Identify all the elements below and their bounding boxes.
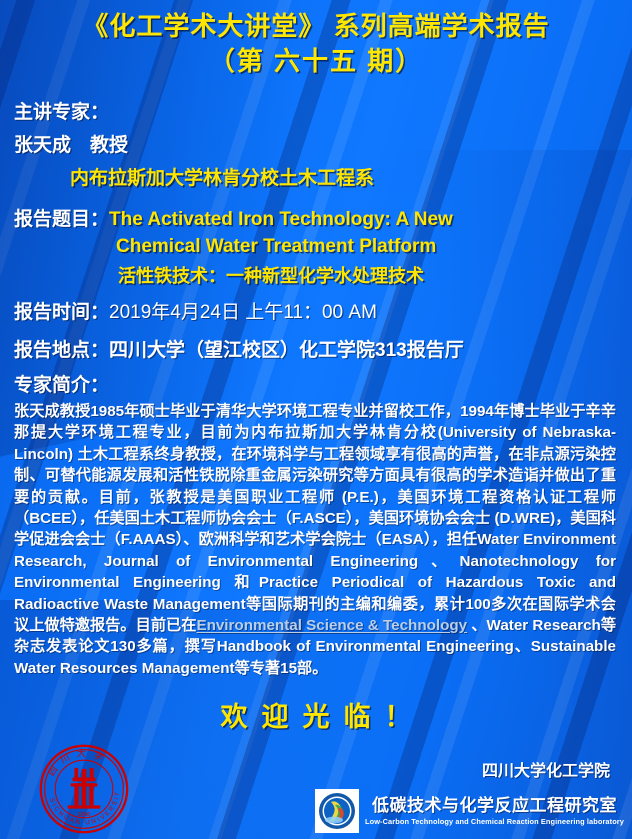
lab-name-en: Low-Carbon Technology and Chemical React…: [365, 816, 624, 827]
talk-title-en-line2: Chemical Water Treatment Platform: [14, 233, 618, 261]
svg-text:四川大学: 四川大学: [47, 747, 111, 778]
bio-text-part1: 张天成教授1985年硕士毕业于清华大学环境工程专业并留校工作，1994年博士毕业…: [14, 403, 616, 634]
lab-name-cn: 低碳技术与化学反应工程研究室: [365, 795, 624, 816]
talk-time-value: 2019年4月24日 上午11：00 AM: [109, 302, 377, 323]
sichuan-university-seal-icon: 四川大学 SICHUAN UNIVERSITY: [36, 741, 132, 837]
bio-paragraph: 张天成教授1985年硕士毕业于清华大学环境工程专业并留校工作，1994年博士毕业…: [14, 401, 618, 679]
talk-title-en-line1: The Activated Iron Technology: A New: [109, 209, 453, 230]
talk-title-label: 报告题目：: [14, 209, 109, 230]
talk-title-block: 报告题目：The Activated Iron Technology: A Ne…: [14, 206, 618, 290]
lab-logo-row: 低碳技术与化学反应工程研究室 Low-Carbon Technology and…: [294, 789, 624, 833]
organizer-name: 四川大学化工学院: [294, 761, 624, 783]
lab-text-block: 低碳技术与化学反应工程研究室 Low-Carbon Technology and…: [365, 795, 624, 827]
svg-text:1896: 1896: [78, 812, 91, 818]
lab-emblem-icon: [315, 789, 359, 833]
talk-title-row1: 报告题目：The Activated Iron Technology: A Ne…: [14, 206, 618, 233]
talk-title-cn: 活性铁技术：一种新型化学水处理技术: [14, 262, 618, 290]
talk-venue-line: 报告地点：四川大学（望江校区）化工学院313报告厅: [14, 335, 618, 366]
speaker-affiliation: 内布拉斯加大学林肯分校土木工程系: [14, 164, 618, 194]
poster-canvas: 《化工学术大讲堂》 系列高端学术报告 （第 六十五 期） 主讲专家： 张天成 教…: [0, 0, 632, 839]
poster-body: 主讲专家： 张天成 教授 内布拉斯加大学林肯分校土木工程系 报告题目：The A…: [0, 99, 632, 737]
bio-label: 专家简介：: [14, 372, 618, 400]
talk-venue-label: 报告地点：: [14, 340, 109, 361]
welcome-text: 欢迎光临！: [14, 697, 618, 737]
header-title-line2: （第 六十五 期）: [0, 43, 632, 79]
talk-time-label: 报告时间：: [14, 302, 109, 323]
poster-header: 《化工学术大讲堂》 系列高端学术报告 （第 六十五 期）: [0, 0, 632, 79]
header-title-line1: 《化工学术大讲堂》 系列高端学术报告: [0, 9, 632, 43]
talk-venue-value: 四川大学（望江校区）化工学院313报告厅: [109, 340, 464, 361]
speaker-label: 主讲专家：: [14, 99, 618, 127]
talk-time-line: 报告时间：2019年4月24日 上午11：00 AM: [14, 297, 618, 328]
footer-right-block: 四川大学化工学院 低碳技术与化: [294, 761, 624, 833]
speaker-name: 张天成 教授: [14, 131, 618, 161]
bio-journal-link[interactable]: Environmental Science & Technology: [196, 617, 467, 634]
poster-footer: 四川大学 SICHUAN UNIVERSITY: [0, 741, 632, 839]
